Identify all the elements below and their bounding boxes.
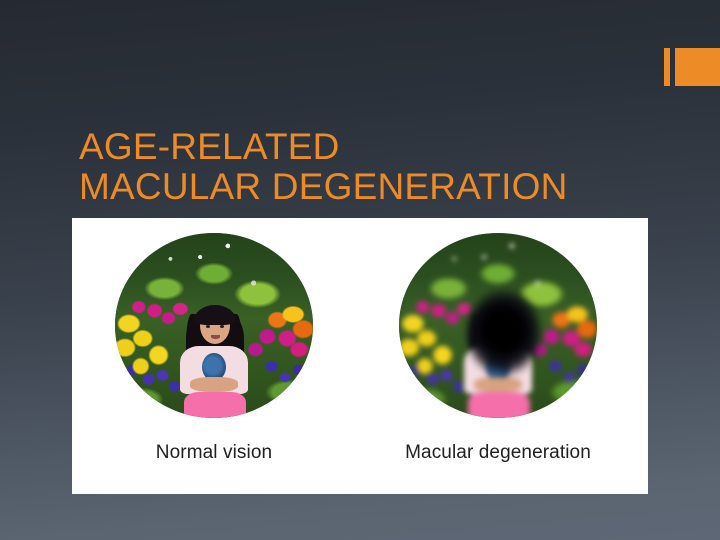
photo-frame-amd bbox=[378, 228, 618, 428]
smile bbox=[211, 335, 220, 339]
pink-pants bbox=[184, 392, 245, 418]
garden-photo-normal bbox=[115, 233, 313, 418]
image-panel: Normal vision bbox=[72, 218, 648, 494]
presentation-slide: AGE-RELATED MACULAR DEGENERATION bbox=[0, 0, 720, 540]
hair-front bbox=[194, 305, 236, 325]
eye-right bbox=[220, 325, 224, 328]
slide-title: AGE-RELATED MACULAR DEGENERATION bbox=[79, 127, 639, 207]
figure-macular-degeneration: Macular degeneration bbox=[378, 228, 618, 494]
eye-left bbox=[206, 325, 210, 328]
child-figure bbox=[115, 233, 313, 418]
figure-caption-amd: Macular degeneration bbox=[378, 442, 618, 464]
figure-normal-vision: Normal vision bbox=[94, 228, 334, 494]
orange-accent-bar bbox=[664, 48, 720, 86]
accent-bar-wide bbox=[675, 48, 720, 86]
arms bbox=[190, 377, 238, 392]
accent-bar-thin bbox=[664, 48, 670, 86]
figure-caption-normal: Normal vision bbox=[94, 442, 334, 464]
garden-photo-amd bbox=[399, 233, 597, 418]
photo-frame-normal bbox=[94, 228, 334, 428]
pink-pants bbox=[468, 392, 529, 418]
